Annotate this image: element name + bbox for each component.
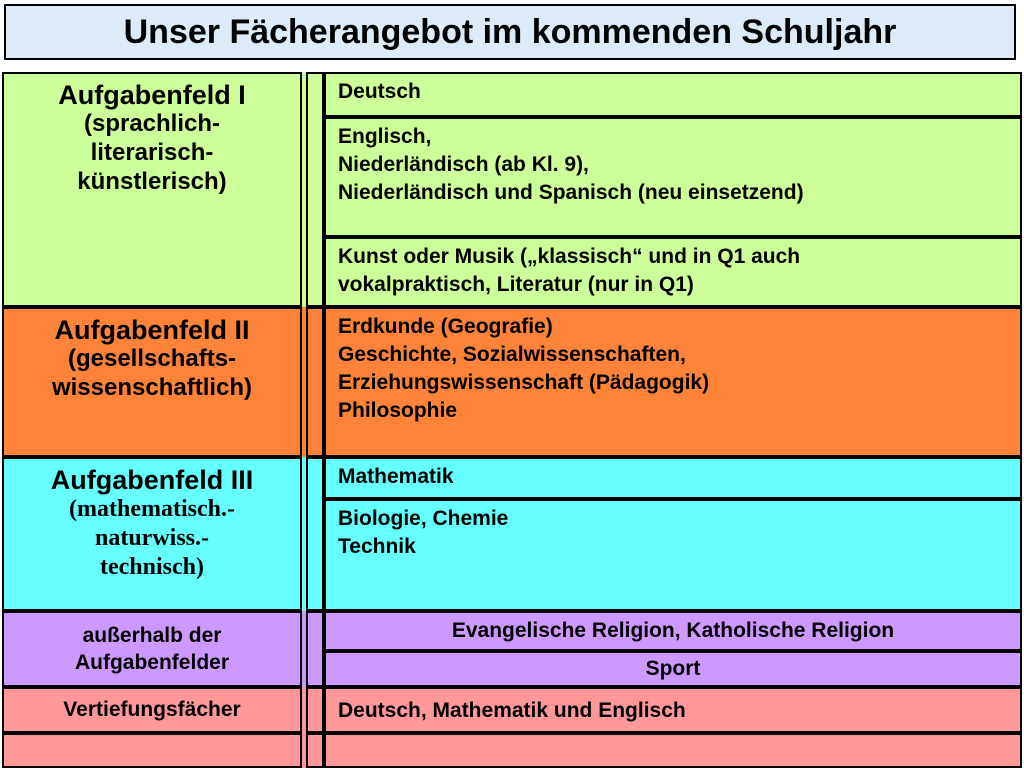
section-subheading-line-2: literarisch- (91, 139, 214, 168)
spacer-column-ausserhalb (306, 611, 324, 687)
section-ausserhalb-der-aufgabenfelder: außerhalb der Aufgabenfelder Evangelisch… (2, 611, 1022, 687)
subject-cell: Erdkunde (Geografie) Geschichte, Sozialw… (324, 307, 1022, 457)
section-label-aufgabenfeld-1: Aufgabenfeld I (sprachlich- literarisch-… (2, 72, 302, 307)
subject-cell: Sport (324, 651, 1022, 687)
section-content-ausserhalb: Evangelische Religion, Katholische Relig… (324, 611, 1022, 687)
subject-line: Erdkunde (Geografie) (338, 313, 1020, 341)
section-subheading-line-3: künstlerisch) (77, 168, 226, 197)
section-aufgabenfeld-2: Aufgabenfeld II (gesellschafts- wissensc… (2, 307, 1022, 457)
section-label-aufgabenfeld-3: Aufgabenfeld III (mathematisch.- naturwi… (2, 457, 302, 611)
spacer-column-aufgabenfeld-1 (306, 72, 324, 307)
subject-cell: Deutsch (324, 72, 1022, 117)
subject-line: Englisch, (338, 123, 1020, 151)
subject-cell: Evangelische Religion, Katholische Relig… (324, 611, 1022, 651)
section-subheading-line-3: technisch) (100, 553, 204, 582)
section-label-partial-row (2, 733, 302, 768)
section-content-aufgabenfeld-1: Deutsch Englisch, Niederländisch (ab Kl.… (324, 72, 1022, 307)
subject-cell: Biologie, Chemie Technik (324, 499, 1022, 611)
subject-line: Sport (646, 655, 701, 683)
section-aufgabenfeld-1: Aufgabenfeld I (sprachlich- literarisch-… (2, 72, 1022, 307)
slide-page: Unser Fächerangebot im kommenden Schulja… (0, 0, 1024, 768)
subject-line: Deutsch (338, 78, 1020, 106)
subject-line: Philosophie (338, 397, 1020, 425)
section-heading: Aufgabenfeld I (58, 80, 246, 110)
section-vertiefungsfaecher: Vertiefungsfächer Deutsch, Mathematik un… (2, 687, 1022, 768)
subject-line: Deutsch, Mathematik und Englisch (338, 697, 1020, 725)
subject-line: Niederländisch (ab Kl. 9), (338, 151, 1020, 179)
section-heading: Vertiefungsfächer (63, 696, 240, 723)
spacer-column-aufgabenfeld-3 (306, 457, 324, 611)
section-label-vertiefungsfaecher: Vertiefungsfächer (2, 687, 302, 733)
subject-line: Kunst oder Musik („klassisch“ und in Q1 … (338, 243, 1020, 271)
subject-line: Biologie, Chemie (338, 505, 1020, 533)
subject-line: Mathematik (338, 463, 1020, 491)
subject-line: vokalpraktisch, Literatur (nur in Q1) (338, 271, 1020, 299)
spacer-column-vertiefungsfaecher (306, 687, 324, 733)
section-heading: Aufgabenfeld II (55, 315, 250, 345)
section-subheading-line-1: (sprachlich- (84, 110, 220, 139)
section-subheading-line-1: (mathematisch.- (69, 495, 235, 524)
section-subheading-line-2: naturwiss.- (95, 524, 209, 553)
subject-line: Technik (338, 533, 1020, 561)
page-title-banner: Unser Fächerangebot im kommenden Schulja… (4, 4, 1016, 60)
section-content-aufgabenfeld-3: Mathematik Biologie, Chemie Technik (324, 457, 1022, 611)
subject-cell: Mathematik (324, 457, 1022, 499)
section-content-aufgabenfeld-2: Erdkunde (Geografie) Geschichte, Sozialw… (324, 307, 1022, 457)
page-title: Unser Fächerangebot im kommenden Schulja… (124, 15, 897, 49)
subject-line: Geschichte, Sozialwissenschaften, (338, 341, 1020, 369)
section-label-ausserhalb: außerhalb der Aufgabenfelder (2, 611, 302, 687)
subject-cell: Englisch, Niederländisch (ab Kl. 9), Nie… (324, 117, 1022, 237)
subject-cell-partial (324, 733, 1022, 768)
spacer-column-aufgabenfeld-2 (306, 307, 324, 457)
section-label-aufgabenfeld-2: Aufgabenfeld II (gesellschafts- wissensc… (2, 307, 302, 457)
subject-offering-table: Aufgabenfeld I (sprachlich- literarisch-… (2, 72, 1022, 768)
subject-line: Erziehungswissenschaft (Pädagogik) (338, 369, 1020, 397)
subject-line: Evangelische Religion, Katholische Relig… (452, 617, 894, 645)
section-subheading-line-1: (gesellschafts- (68, 345, 236, 374)
section-heading: Aufgabenfeld III (51, 465, 254, 495)
spacer-column-partial-row (306, 733, 324, 768)
subject-cell: Kunst oder Musik („klassisch“ und in Q1 … (324, 237, 1022, 307)
subject-line: Niederländisch und Spanisch (neu einsetz… (338, 179, 1020, 207)
section-heading: außerhalb der (83, 622, 222, 649)
section-aufgabenfeld-3: Aufgabenfeld III (mathematisch.- naturwi… (2, 457, 1022, 611)
section-subheading-line-1: Aufgabenfelder (75, 649, 229, 676)
section-content-vertiefungsfaecher: Deutsch, Mathematik und Englisch (324, 687, 1022, 768)
section-subheading-line-2: wissenschaftlich) (52, 374, 252, 403)
subject-cell: Deutsch, Mathematik und Englisch (324, 687, 1022, 733)
